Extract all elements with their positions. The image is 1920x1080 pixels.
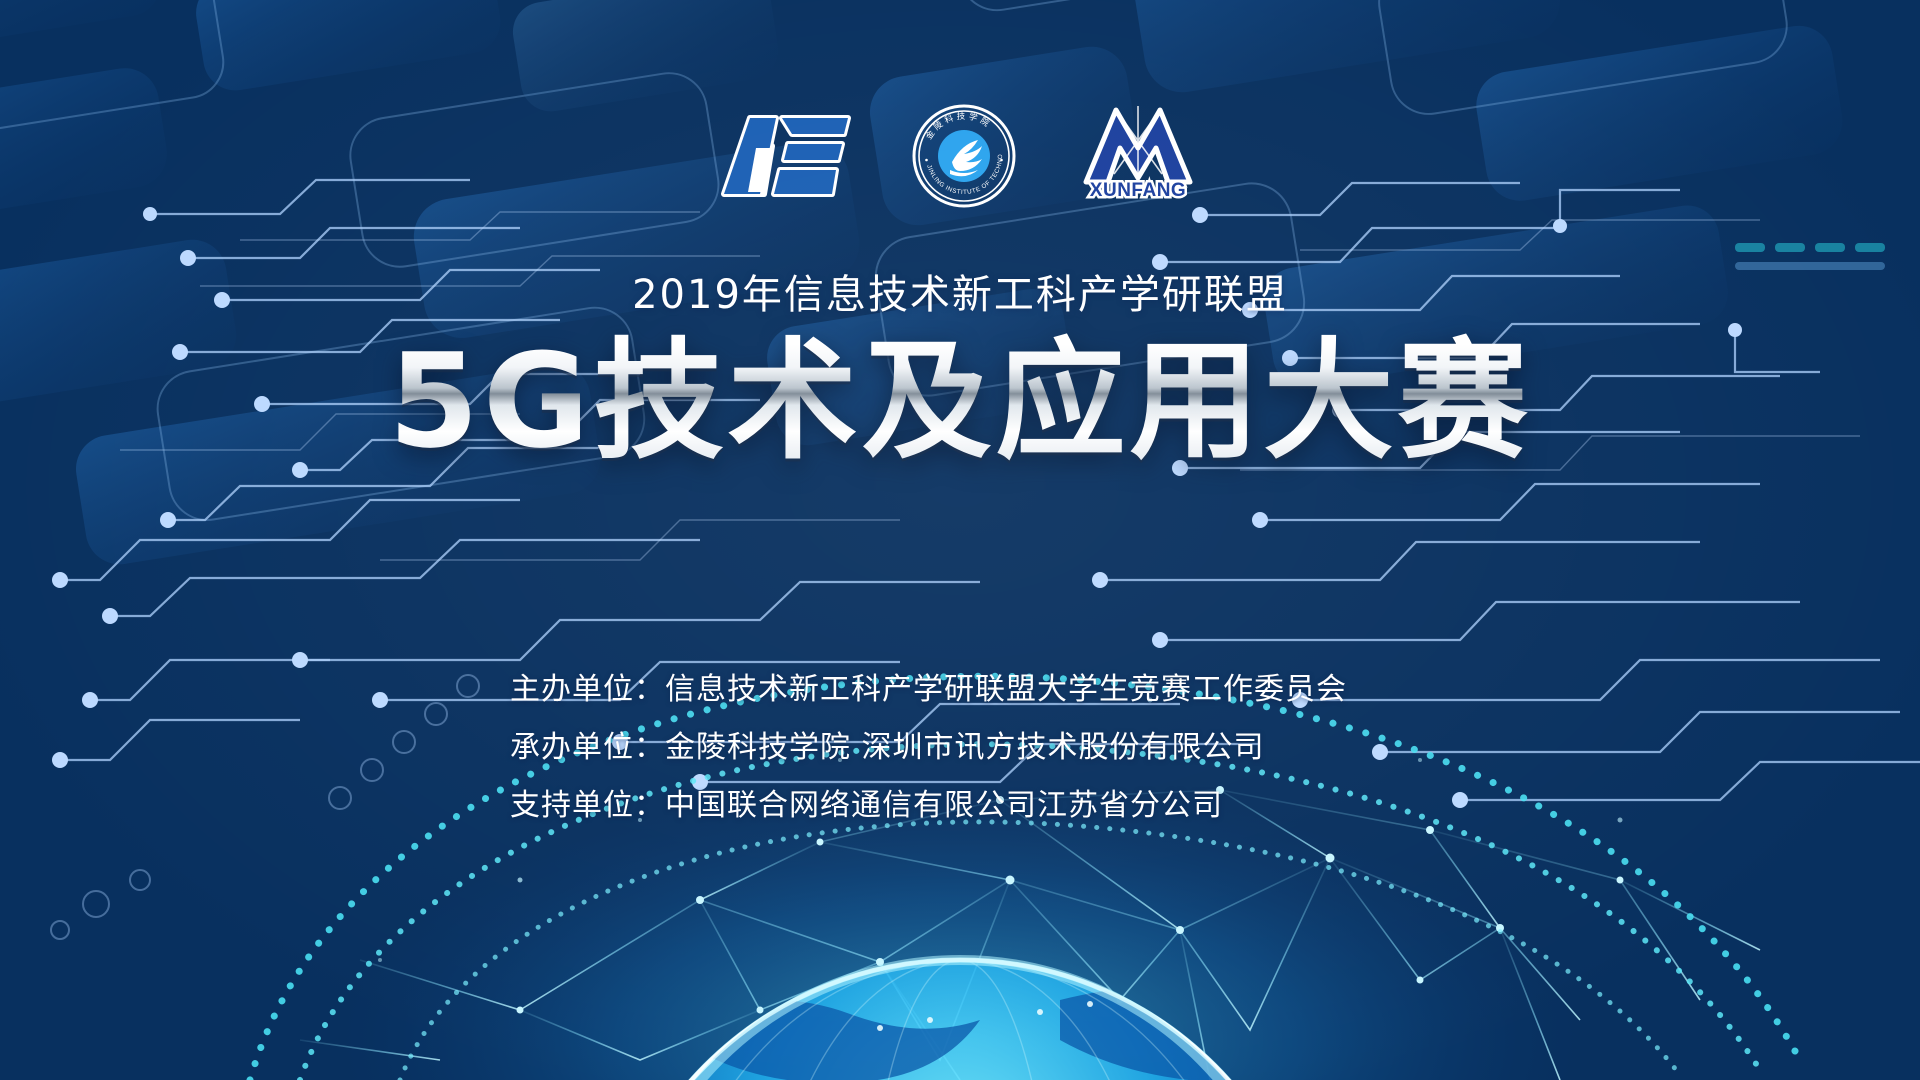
jinling-institute-seal: 金陵科技学院 JINLING INSTITUTE OF TECHNOLOGY: [912, 104, 1016, 213]
organizer-line: 主办单位：信息技术新工科产学研联盟大学生竞赛工作委员会: [510, 664, 1410, 708]
main-title: 5G技术及应用大赛: [388, 296, 1531, 484]
jinling-seal-icon: 金陵科技学院 JINLING INSTITUTE OF TECHNOLOGY: [912, 104, 1016, 208]
xunfang-wordmark: XUNFANG: [1090, 180, 1186, 201]
organizer-label: 承办单位：: [510, 730, 665, 765]
logo-row: 金陵科技学院 JINLING INSTITUTE OF TECHNOLOGY: [0, 104, 1920, 213]
xunfang-logo-icon: XUNFANG: [1072, 104, 1204, 208]
organizer-line: 承办单位：金陵科技学院 深圳市讯方技术股份有限公司: [510, 722, 1410, 766]
organizer-list: 主办单位：信息技术新工科产学研联盟大学生竞赛工作委员会 承办单位：金陵科技学院 …: [0, 664, 1920, 824]
organizer-label: 支持单位：: [510, 788, 665, 823]
main-title-wrap: 5G技术及应用大赛 5G技术及应用大赛: [0, 296, 1920, 484]
poster-content: 金陵科技学院 JINLING INSTITUTE OF TECHNOLOGY: [0, 0, 1920, 1080]
aiie-logo: [716, 106, 856, 211]
aiie-logo-icon: [716, 106, 856, 206]
poster-canvas: 金陵科技学院 JINLING INSTITUTE OF TECHNOLOGY: [0, 0, 1920, 1080]
organizer-label: 主办单位：: [510, 672, 665, 707]
xunfang-logo: XUNFANG: [1072, 104, 1204, 213]
organizer-value: 中国联合网络通信有限公司江苏省分公司: [665, 788, 1223, 823]
organizer-value: 金陵科技学院 深圳市讯方技术股份有限公司: [665, 730, 1265, 765]
organizer-line: 支持单位：中国联合网络通信有限公司江苏省分公司: [510, 780, 1410, 824]
organizer-value: 信息技术新工科产学研联盟大学生竞赛工作委员会: [665, 672, 1347, 707]
